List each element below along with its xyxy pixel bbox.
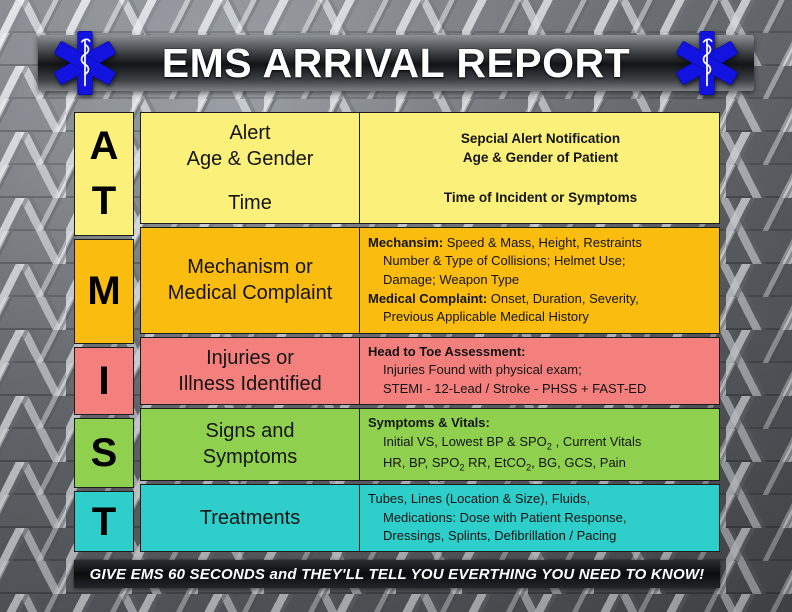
table-row: AlertAge & GenderTimeSepcial Alert Notif…	[140, 112, 720, 224]
atmist-detail-line: Medical Complaint: Onset, Duration, Seve…	[368, 290, 713, 309]
atmist-detail-line: STEMI - 12-Lead / Stroke - PHSS + FAST-E…	[368, 380, 713, 399]
atmist-detail-line: Previous Applicable Medical History	[368, 308, 713, 327]
atmist-detail-line: Age & Gender of Patient	[463, 148, 618, 168]
atmist-label-line: Medical Complaint	[168, 280, 333, 306]
atmist-table: ATMIST AlertAge & GenderTimeSepcial Aler…	[74, 112, 720, 552]
atmist-label-line: Alert	[229, 120, 270, 146]
page-title: EMS ARRIVAL REPORT	[162, 43, 630, 84]
atmist-letter: A	[90, 126, 119, 166]
atmist-letter-cell: AT	[74, 112, 134, 236]
atmist-detail-line: Head to Toe Assessment:	[368, 343, 713, 362]
atmist-label-line: Illness Identified	[178, 371, 321, 397]
atmist-detail-line: Time of Incident or Symptoms	[444, 188, 637, 208]
atmist-detail-line: Injuries Found with physical exam;	[368, 361, 713, 380]
atmist-letter: T	[92, 181, 116, 221]
atmist-letter-column: ATMIST	[74, 112, 134, 552]
table-row: Signs andSymptomsSymptoms & Vitals:Initi…	[140, 408, 720, 481]
atmist-letter: I	[98, 361, 109, 401]
atmist-label-cell: AlertAge & GenderTime	[141, 113, 360, 223]
atmist-letter-cell: I	[74, 347, 134, 415]
atmist-detail-line: Symptoms & Vitals:	[368, 414, 713, 433]
ems-arrival-report-poster: EMS ARRIVAL REPORT ATMIST AlertAge & Gen…	[0, 0, 792, 612]
atmist-detail-line: HR, BP, SPO2 RR, EtCO2, BG, GCS, Pain	[368, 454, 713, 475]
detail-body: Speed & Mass, Height, Restraints	[443, 235, 642, 250]
detail-lead-in: Head to Toe Assessment:	[368, 344, 526, 359]
atmist-detail-cell: Head to Toe Assessment:Injuries Found wi…	[360, 338, 719, 404]
atmist-detail-line: Number & Type of Collisions; Helmet Use;	[368, 252, 713, 271]
atmist-letter: S	[91, 433, 118, 473]
atmist-detail-cell: Symptoms & Vitals:Initial VS, Lowest BP …	[360, 409, 719, 480]
atmist-label-line: Time	[228, 190, 272, 216]
star-of-life-icon	[52, 30, 118, 96]
atmist-label-cell: Injuries orIllness Identified	[141, 338, 360, 404]
atmist-label-cell: Signs andSymptoms	[141, 409, 360, 480]
detail-body: Onset, Duration, Severity,	[487, 291, 639, 306]
detail-lead-in: Symptoms & Vitals:	[368, 415, 490, 430]
footer-banner: GIVE EMS 60 SECONDS and THEY'LL TELL YOU…	[74, 560, 720, 588]
atmist-letter-cell: M	[74, 239, 134, 345]
table-row: Injuries orIllness IdentifiedHead to Toe…	[140, 337, 720, 405]
footer-text: GIVE EMS 60 SECONDS and THEY'LL TELL YOU…	[90, 566, 705, 583]
atmist-label-line: Age & Gender	[187, 146, 314, 172]
atmist-letter-cell: T	[74, 491, 134, 552]
atmist-label-line: Signs and	[206, 418, 295, 444]
atmist-label-line: Treatments	[200, 505, 300, 531]
atmist-letter: T	[92, 502, 116, 542]
atmist-label-cell: Treatments	[141, 485, 360, 551]
table-row: TreatmentsTubes, Lines (Location & Size)…	[140, 484, 720, 552]
atmist-label-line: Mechanism or	[187, 254, 313, 280]
atmist-detail-line: Mechansim: Speed & Mass, Height, Restrai…	[368, 234, 713, 253]
atmist-detail-cell: Tubes, Lines (Location & Size), Fluids,M…	[360, 485, 719, 551]
atmist-detail-line: Medications: Dose with Patient Response,	[368, 509, 713, 528]
table-row: Mechanism orMedical ComplaintMechansim: …	[140, 227, 720, 333]
detail-lead-in: Medical Complaint:	[368, 291, 487, 306]
atmist-detail-line: Sepcial Alert Notification	[461, 129, 620, 149]
atmist-detail-line: Initial VS, Lowest BP & SPO2 , Current V…	[368, 433, 713, 454]
atmist-detail-line: Tubes, Lines (Location & Size), Fluids,	[368, 490, 713, 509]
atmist-detail-cell: Sepcial Alert NotificationAge & Gender o…	[360, 113, 719, 223]
atmist-detail-line: Damage; Weapon Type	[368, 271, 713, 290]
detail-lead-in: Mechansim:	[368, 235, 443, 250]
atmist-letter: M	[87, 271, 120, 311]
atmist-detail-cell: Mechansim: Speed & Mass, Height, Restrai…	[360, 228, 719, 332]
atmist-label-line: Symptoms	[203, 444, 297, 470]
atmist-content-column: AlertAge & GenderTimeSepcial Alert Notif…	[140, 112, 720, 552]
atmist-label-cell: Mechanism orMedical Complaint	[141, 228, 360, 332]
atmist-label-line: Injuries or	[206, 345, 294, 371]
header-banner: EMS ARRIVAL REPORT	[38, 35, 754, 91]
star-of-life-icon	[674, 30, 740, 96]
atmist-detail-line: Dressings, Splints, Defibrillation / Pac…	[368, 527, 713, 546]
atmist-letter-cell: S	[74, 418, 134, 488]
